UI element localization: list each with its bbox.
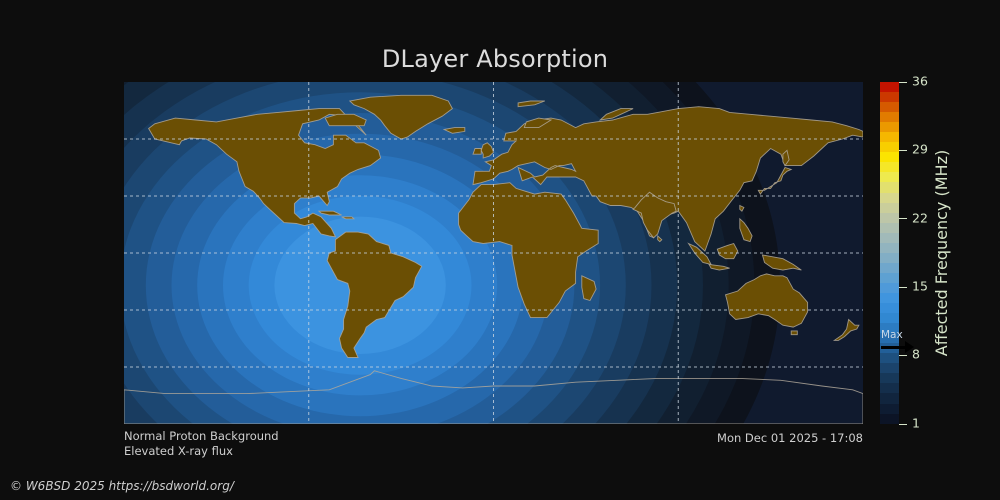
colorbar-band: [880, 363, 899, 373]
colorbar-band: [880, 404, 899, 414]
proton-status-text: Normal Proton Background: [124, 429, 279, 444]
colorbar-band: [880, 152, 899, 162]
colorbar-band: [880, 393, 899, 403]
colorbar-band: [880, 92, 899, 102]
colorbar-band: [880, 323, 899, 333]
colorbar-band: [880, 203, 899, 213]
colorbar-band: [880, 333, 899, 343]
colorbar-band: [880, 82, 899, 92]
colorbar-tick-value: 15: [912, 280, 928, 293]
colorbar-band: [880, 162, 899, 172]
colorbar-tick-value: 29: [912, 144, 928, 157]
colorbar-band: [880, 383, 899, 393]
colorbar-band: [880, 172, 899, 182]
app-root: DLayer Absorption: [0, 0, 1000, 500]
colorbar-band: [880, 132, 899, 142]
colorbar-band: [880, 373, 899, 383]
colorbar-tick-mark-icon: [899, 218, 907, 219]
colorbar-tick-mark-icon: [899, 82, 907, 83]
colorbar-tick-value: 1: [912, 417, 920, 430]
colorbar-tick-value: 22: [912, 212, 928, 225]
colorbar-band: [880, 102, 899, 112]
colorbar-band: [880, 273, 899, 283]
world-absorption-map[interactable]: [124, 82, 863, 424]
colorbar-band: [880, 142, 899, 152]
colorbar-tick-mark-icon: [899, 287, 907, 288]
landmass-ireland: [473, 149, 481, 155]
colorbar-tick-value: 8: [912, 349, 920, 362]
colorbar-band: [880, 253, 899, 263]
credit-text: © W6BSD 2025 https://bsdworld.org/: [10, 479, 234, 493]
colorbar-band: [880, 233, 899, 243]
colorbar-tick-mark-icon: [899, 355, 907, 356]
colorbar-band: [880, 122, 899, 132]
colorbar-band: [880, 193, 899, 203]
colorbar-band: [880, 414, 899, 424]
colorbar-band: [880, 353, 899, 363]
landmass-tasmania: [791, 331, 797, 335]
map-canvas: [124, 82, 863, 424]
colorbar-band: [880, 112, 899, 122]
xray-status-text: Elevated X-ray flux: [124, 444, 279, 459]
colorbar-band: [880, 293, 899, 303]
colorbar-band: [880, 182, 899, 192]
colorbar-band: [880, 303, 899, 313]
timestamp-text: Mon Dec 01 2025 - 17:08: [560, 431, 863, 446]
page-title: DLayer Absorption: [0, 45, 990, 73]
colorbar-band: [880, 223, 899, 233]
status-notes: Normal Proton Background Elevated X-ray …: [124, 429, 279, 459]
colorbar-axis-label: Affected Frequency (MHz): [930, 82, 954, 424]
affected-frequency-colorbar[interactable]: [880, 82, 899, 424]
colorbar-band: [880, 263, 899, 273]
colorbar-band: [880, 283, 899, 293]
colorbar-tick-mark-icon: [899, 424, 907, 425]
colorbar-band: [880, 313, 899, 323]
colorbar-band: [880, 243, 899, 253]
colorbar-band: [880, 343, 899, 353]
colorbar-band: [880, 213, 899, 223]
colorbar-tick-value: 36: [912, 75, 928, 88]
colorbar-tick-mark-icon: [899, 150, 907, 151]
